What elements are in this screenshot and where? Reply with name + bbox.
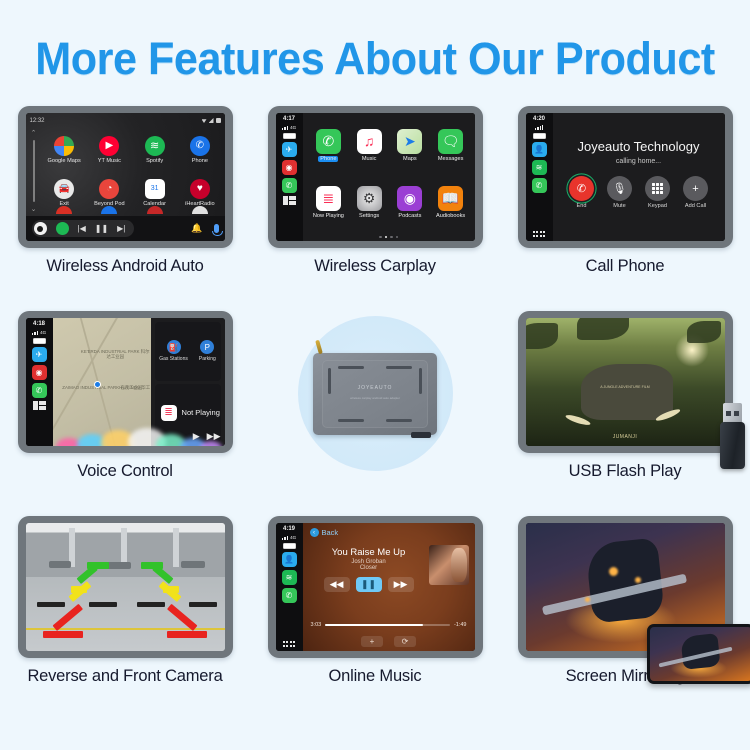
spark xyxy=(635,577,641,583)
call-status: calling home... xyxy=(616,158,661,165)
tablet-device-music: 4:19 4G 👤 ≋ ✆ xyxy=(268,516,483,658)
rewind-icon[interactable]: ◀◀ xyxy=(324,577,350,592)
signal-icon: 4G xyxy=(282,125,296,130)
next-track-icon[interactable]: ▶| xyxy=(117,224,125,233)
spotify-icon: ≋ xyxy=(145,136,165,156)
carplay-main: KE'ERDA INDUSTRIAL PARK 科尔达工业园 ZAIMAO IN… xyxy=(53,318,225,446)
phone-icon[interactable]: ✆ xyxy=(282,178,297,193)
spotify-icon[interactable]: ≋ xyxy=(532,160,547,175)
phone-icon: ✆ xyxy=(190,136,210,156)
partial-app-1 xyxy=(56,206,72,214)
playback-controls: ◀◀ ❚❚ ▶▶ xyxy=(311,577,427,592)
app-grid-icon[interactable] xyxy=(533,231,546,237)
album-artwork xyxy=(429,545,469,585)
car-exit-icon: 🚘 xyxy=(54,179,74,199)
network-label: 4G xyxy=(290,125,296,130)
mute-microphone-icon: 🎙 xyxy=(607,176,632,201)
android-auto-media-bar: |◀ ❚❚ ▶| 🔔 xyxy=(26,216,225,241)
foliage xyxy=(687,321,721,343)
app-yt-music[interactable]: ▶ YT Music xyxy=(87,128,132,171)
movie-cast-line: A JUNGLE ADVENTURE FILM xyxy=(526,385,725,389)
guideline-mid-right-cap xyxy=(163,586,179,593)
carplay-sidebar: 4:18 4G ✈ ◉ ✆ xyxy=(26,318,53,446)
parked-car xyxy=(49,561,71,568)
status-clock: 12:32 xyxy=(30,118,45,124)
battery-icon xyxy=(33,338,46,344)
app-label: Phone xyxy=(318,156,338,162)
page-title: More Features About Our Product xyxy=(15,0,735,85)
app-label: Google Maps xyxy=(47,158,80,164)
usb-flash-drive-icon xyxy=(720,403,745,469)
status-clock: 4:18 xyxy=(33,321,45,327)
scroll-thumb[interactable] xyxy=(33,140,35,202)
guideline-mid-left-cap xyxy=(71,586,87,593)
feature-caption: Reverse and Front Camera xyxy=(27,667,222,686)
feature-grid-page: More Features About Our Product 12:32 xyxy=(0,0,750,750)
iheartradio-icon: ♥ xyxy=(190,179,210,199)
guideline-near-right xyxy=(167,631,207,638)
feature-caption: USB Flash Play xyxy=(569,462,682,481)
smartphone-icon xyxy=(647,624,750,684)
app-grid-icon[interactable] xyxy=(283,641,296,647)
app-google-maps[interactable]: Google Maps xyxy=(42,128,87,171)
app-messages[interactable]: 🗨 Messages xyxy=(432,118,470,172)
feature-card-call-phone: 4:20 👤 ≋ ✆ xyxy=(500,106,750,311)
play-icon[interactable]: ▶ xyxy=(193,431,200,442)
app-label: Maps xyxy=(403,156,417,162)
red-app-icon[interactable]: ◉ xyxy=(282,160,297,175)
screen-android-auto: 12:32 ⌃ ⌄ xyxy=(26,113,225,241)
caller-name: Joyeauto Technology xyxy=(578,139,700,154)
guideline-far-left-cap xyxy=(87,562,109,569)
battery-icon xyxy=(283,133,296,139)
android-auto-scroll-rail[interactable]: ⌃ ⌄ xyxy=(28,129,40,213)
carplay-sidebar: 4:17 4G ✈ ◉ ✆ xyxy=(276,113,303,241)
feature-card-screen-mirroring: Screen Mirroring xyxy=(500,516,750,721)
carplay-main: Joyeauto Technology calling home... ✆ En… xyxy=(553,113,725,241)
phone-icon[interactable]: ✆ xyxy=(282,588,297,603)
android-auto-partial-row xyxy=(42,206,223,214)
end-call-button[interactable]: ✆ End xyxy=(569,176,594,209)
tablet-device-voice: 4:18 4G ✈ ◉ ✆ xyxy=(18,311,233,453)
app-label: YT Music xyxy=(98,158,121,164)
contacts-icon[interactable]: 👤 xyxy=(282,552,297,567)
keypad-icon xyxy=(645,176,670,201)
guideline-far-right-cap xyxy=(141,562,163,569)
feature-caption: Call Phone xyxy=(586,257,665,276)
app-grid-icon[interactable] xyxy=(33,401,46,410)
poi-label: Parking xyxy=(199,356,216,362)
signal-icon: 4G xyxy=(282,535,296,540)
feature-caption: Wireless Carplay xyxy=(314,257,436,276)
app-label: Messages xyxy=(438,156,464,162)
feature-card-wireless-carplay: 4:17 4G ✈ ◉ ✆ xyxy=(250,106,500,311)
foliage xyxy=(577,318,629,340)
youtube-music-icon: ▶ xyxy=(99,136,119,156)
device-body: JOYEAUTO wireless carplay android auto a… xyxy=(313,353,437,435)
feature-card-product-device: JOYEAUTO wireless carplay android auto a… xyxy=(250,311,500,516)
button-label: Mute xyxy=(613,203,625,209)
signal-icon xyxy=(209,118,214,123)
poi-card: ⛽ Gas Stations P Parking xyxy=(155,322,221,381)
remaining-time: -1:49 xyxy=(454,622,467,628)
repeat-icon[interactable]: ⟳ xyxy=(394,636,416,647)
battery-icon xyxy=(283,543,296,549)
mirrored-game-scene xyxy=(650,627,750,681)
feature-caption: Wireless Android Auto xyxy=(46,257,203,276)
poi-parking[interactable]: P Parking xyxy=(199,340,216,362)
tablet-device-camera xyxy=(18,516,233,658)
battery-icon xyxy=(533,133,546,139)
app-audiobooks[interactable]: 📖 Audiobooks xyxy=(432,175,470,229)
android-auto-status-bar: 12:32 xyxy=(26,115,225,126)
signal-icon: 4G xyxy=(32,330,46,335)
media-pill: |◀ ❚❚ ▶| xyxy=(32,220,135,237)
wheel-stop xyxy=(137,602,165,607)
media-bar-right: 🔔 xyxy=(191,223,218,234)
carplay-root: 4:19 4G 👤 ≋ ✆ xyxy=(276,523,475,651)
spark xyxy=(609,567,618,576)
tablet-device-usb: A JUNGLE ADVENTURE FILM JUMANJI xyxy=(518,311,733,453)
camera-feed xyxy=(26,523,225,651)
chevron-down-icon[interactable]: ⌄ xyxy=(31,205,37,213)
rhino-silhouette xyxy=(581,364,673,420)
home-circle-icon[interactable] xyxy=(34,222,47,235)
app-maps[interactable]: ➤ Maps xyxy=(391,118,429,172)
pause-icon[interactable]: ❚❚ xyxy=(95,224,108,233)
tablet-device-call: 4:20 👤 ≋ ✆ xyxy=(518,106,733,248)
button-label: End xyxy=(577,203,587,209)
phone-icon[interactable]: ✆ xyxy=(32,383,47,398)
feature-caption: Online Music xyxy=(329,667,422,686)
device-sub-label: wireless carplay android auto adapter xyxy=(322,396,428,400)
end-call-icon: ✆ xyxy=(569,176,594,201)
settings-gear-icon: ⚙ xyxy=(357,186,382,211)
mute-button[interactable]: 🎙 Mute xyxy=(607,176,632,209)
feature-card-voice-control: 4:18 4G ✈ ◉ ✆ xyxy=(0,311,250,516)
carplay-main: ✆ Phone ♫ Music ➤ Maps xyxy=(303,113,475,241)
app-label: Music xyxy=(362,156,377,162)
wifi-icon xyxy=(202,118,207,123)
secondary-controls: + ⟳ xyxy=(303,636,475,647)
podcasts-icon: ◉ xyxy=(397,186,422,211)
page-indicator[interactable] xyxy=(303,236,475,239)
signal-icon xyxy=(535,125,544,130)
page-dot[interactable] xyxy=(390,236,393,239)
product-photo: JOYEAUTO wireless carplay android auto a… xyxy=(293,311,458,476)
now-playing-icon: ≣ xyxy=(316,186,341,211)
usb-port xyxy=(411,432,431,438)
vent-slot xyxy=(386,366,412,369)
spotify-icon[interactable]: ≋ xyxy=(282,570,297,585)
spotify-icon[interactable] xyxy=(56,222,69,235)
button-label: Keypad xyxy=(648,203,667,209)
call-controls: ✆ End 🎙 Mute xyxy=(569,176,708,209)
tablet-device-carplay: 4:17 4G ✈ ◉ ✆ xyxy=(268,106,483,248)
movie-scene: A JUNGLE ADVENTURE FILM JUMANJI xyxy=(526,318,725,446)
map-label: HUA INDU 华工 xyxy=(119,385,150,391)
messages-icon: 🗨 xyxy=(438,129,463,154)
foliage xyxy=(526,323,558,349)
page-dot[interactable] xyxy=(396,236,399,239)
movie-title: JUMANJI xyxy=(526,434,725,440)
app-label: Phone xyxy=(192,158,208,164)
track-title: You Raise Me Up xyxy=(311,547,427,558)
phone-icon[interactable]: ✆ xyxy=(532,178,547,193)
app-grid-icon[interactable] xyxy=(283,196,296,205)
add-call-button[interactable]: + Add Call xyxy=(683,176,708,209)
vent-slot xyxy=(386,419,412,422)
partial-app-4 xyxy=(192,206,208,214)
poi-gas-stations[interactable]: ⛽ Gas Stations xyxy=(159,340,188,362)
vent-slot xyxy=(338,366,364,369)
carplay-root: 4:20 👤 ≋ ✆ xyxy=(526,113,725,241)
back-button[interactable]: ‹ Back xyxy=(310,528,339,537)
app-settings[interactable]: ⚙ Settings xyxy=(350,175,388,229)
chevron-up-icon[interactable]: ⌃ xyxy=(31,129,37,137)
phone-icon: ✆ xyxy=(316,129,341,154)
screen-carplay-call: 4:20 👤 ≋ ✆ xyxy=(526,113,725,241)
feature-card-reverse-front-camera: Reverse and Front Camera xyxy=(0,516,250,721)
beyondpod-icon: ◔ xyxy=(99,179,119,199)
app-label: Podcasts xyxy=(398,213,421,219)
android-auto-app-grid: Google Maps ▶ YT Music ≋ Spotify ✆ Pho xyxy=(42,128,223,214)
wheel-stop xyxy=(37,602,65,607)
carplay-sidebar: 4:20 👤 ≋ ✆ xyxy=(526,113,553,241)
device-inner-panel: JOYEAUTO wireless carplay android auto a… xyxy=(322,360,428,428)
now-playing-label: Not Playing xyxy=(182,408,220,417)
garage-background xyxy=(26,523,225,577)
music-icon: ♫ xyxy=(357,129,382,154)
now-playing-icon: ≣ xyxy=(161,405,177,421)
tablet-device-android-auto: 12:32 ⌃ ⌄ xyxy=(18,106,233,248)
carplay-main: ‹ Back You Raise Me Up Josh Groban Close… xyxy=(303,523,475,651)
carplay-sidebar: 4:19 4G 👤 ≋ ✆ xyxy=(276,523,303,651)
current-location-icon xyxy=(94,381,101,388)
phone-screen xyxy=(650,627,750,681)
pause-icon[interactable]: ❚❚ xyxy=(356,577,382,592)
progress-row: 3:03 -1:49 xyxy=(311,622,467,628)
add-call-icon: + xyxy=(683,176,708,201)
elapsed-time: 3:03 xyxy=(311,622,322,628)
guideline-near-left xyxy=(43,631,83,638)
features-grid: 12:32 ⌃ ⌄ xyxy=(0,106,750,721)
chevron-left-icon: ‹ xyxy=(310,528,319,537)
pillar xyxy=(173,528,179,567)
red-app-icon[interactable]: ◉ xyxy=(32,365,47,380)
telegram-icon[interactable]: ✈ xyxy=(282,142,297,157)
maps-icon: ➤ xyxy=(397,129,422,154)
status-clock: 4:20 xyxy=(533,116,545,122)
screen-reverse-camera xyxy=(26,523,225,651)
track-album: Closer xyxy=(311,565,427,571)
previous-track-icon[interactable]: |◀ xyxy=(78,224,86,233)
audiobooks-icon: 📖 xyxy=(438,186,463,211)
feature-card-usb-flash-play: A JUNGLE ADVENTURE FILM JUMANJI USB Flas… xyxy=(500,311,750,516)
back-label: Back xyxy=(322,528,339,537)
fast-forward-icon[interactable]: ▶▶ xyxy=(388,577,414,592)
telegram-icon[interactable]: ✈ xyxy=(32,347,47,362)
network-label: 4G xyxy=(40,330,46,335)
feature-card-online-music: 4:19 4G 👤 ≋ ✆ xyxy=(250,516,500,721)
usb-body xyxy=(720,422,745,469)
microphone-icon[interactable] xyxy=(214,224,219,233)
carplay-root: 4:18 4G ✈ ◉ ✆ xyxy=(26,318,225,446)
tablet-device-mirroring xyxy=(518,516,733,658)
maps-icon xyxy=(54,136,74,156)
app-phone[interactable]: ✆ Phone xyxy=(177,128,222,171)
keypad-button[interactable]: Keypad xyxy=(645,176,670,209)
app-label: Now Playing xyxy=(313,213,344,219)
carplay-app-grid: ✆ Phone ♫ Music ➤ Maps xyxy=(310,118,470,229)
parking-icon: P xyxy=(200,340,214,354)
contacts-icon[interactable]: 👤 xyxy=(532,142,547,157)
network-label: 4G xyxy=(290,535,296,540)
status-icons xyxy=(202,118,221,123)
screen-movie-playback: A JUNGLE ADVENTURE FILM JUMANJI xyxy=(526,318,725,446)
app-podcasts[interactable]: ◉ Podcasts xyxy=(391,175,429,229)
transport-controls[interactable]: ▶ ▶▶ xyxy=(193,431,221,442)
ground-surface xyxy=(26,577,225,651)
screen-carplay-home: 4:17 4G ✈ ◉ ✆ xyxy=(276,113,475,241)
partial-app-3 xyxy=(147,206,163,214)
app-music[interactable]: ♫ Music xyxy=(350,118,388,172)
notification-bell-icon[interactable]: 🔔 xyxy=(191,223,202,234)
screen-voice-control: 4:18 4G ✈ ◉ ✆ xyxy=(26,318,225,446)
progress-bar[interactable] xyxy=(325,624,450,626)
device-brand-label: JOYEAUTO xyxy=(322,385,428,391)
app-label: Spotify xyxy=(146,158,163,164)
app-now-playing[interactable]: ≣ Now Playing xyxy=(310,175,348,229)
page-dot-active[interactable] xyxy=(385,236,388,239)
app-label: Settings xyxy=(359,213,379,219)
app-phone[interactable]: ✆ Phone xyxy=(310,118,348,172)
wheel-stop xyxy=(189,602,217,607)
screen-music-player: 4:19 4G 👤 ≋ ✆ xyxy=(276,523,475,651)
feature-caption: Voice Control xyxy=(77,462,173,481)
fast-forward-icon[interactable]: ▶▶ xyxy=(207,431,221,442)
calendar-icon: 31 xyxy=(145,179,165,199)
map-label: KE'ERDA INDUSTRIAL PARK 科尔达工业园 xyxy=(80,349,151,360)
add-icon[interactable]: + xyxy=(361,636,383,647)
page-dot[interactable] xyxy=(379,236,382,239)
battery-icon xyxy=(216,118,221,123)
parked-car xyxy=(181,561,205,568)
partial-app-2 xyxy=(101,206,117,214)
button-label: Add Call xyxy=(685,203,706,209)
gas-station-icon: ⛽ xyxy=(167,340,181,354)
status-clock: 4:17 xyxy=(283,116,295,122)
track-info: You Raise Me Up Josh Groban Closer ◀◀ ❚❚… xyxy=(311,547,427,592)
wheel-stop xyxy=(89,602,117,607)
feature-card-wireless-android-auto: 12:32 ⌃ ⌄ xyxy=(0,106,250,311)
carplay-root: 4:17 4G ✈ ◉ ✆ xyxy=(276,113,475,241)
app-label: Audiobooks xyxy=(436,213,465,219)
status-clock: 4:19 xyxy=(283,526,295,532)
call-screen: Joyeauto Technology calling home... ✆ En… xyxy=(553,113,725,241)
poi-label: Gas Stations xyxy=(159,356,188,362)
app-spotify[interactable]: ≋ Spotify xyxy=(132,128,177,171)
vent-slot xyxy=(338,419,364,422)
